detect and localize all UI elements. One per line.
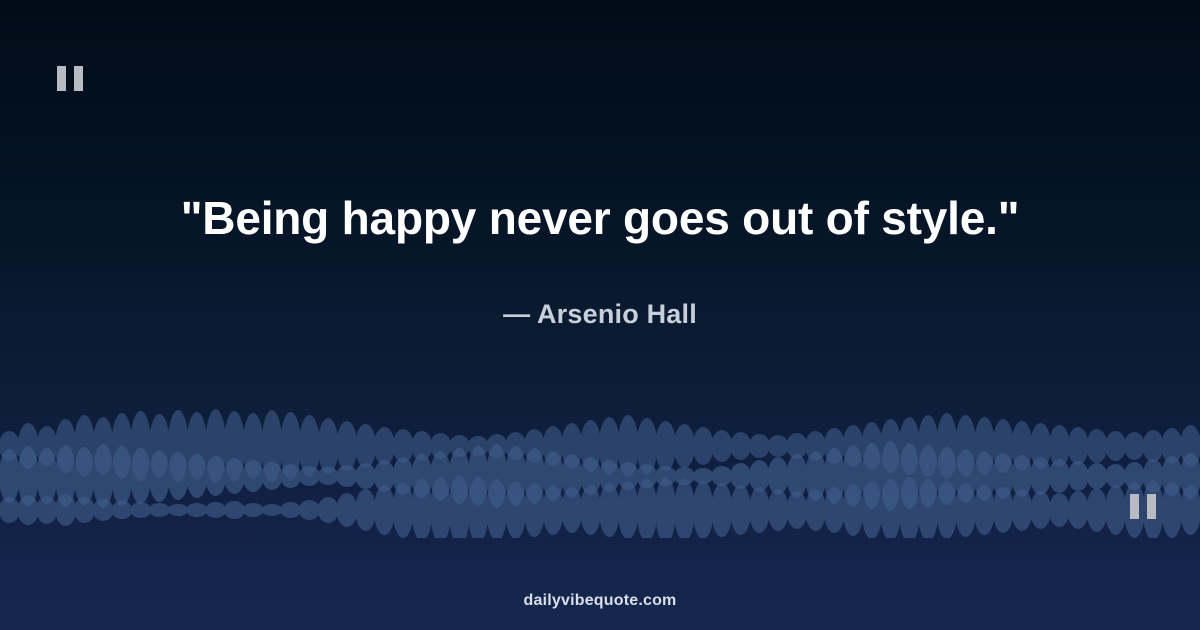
quote-text: "Being happy never goes out of style.": [181, 190, 1020, 248]
footer: dailyvibequote.com: [0, 592, 1200, 610]
quote-card: "Being happy never goes out of style." —…: [0, 0, 1200, 630]
quote-attribution: — Arsenio Hall: [503, 299, 697, 330]
site-url: dailyvibequote.com: [524, 592, 677, 609]
quote-content: "Being happy never goes out of style." —…: [0, 0, 1200, 630]
